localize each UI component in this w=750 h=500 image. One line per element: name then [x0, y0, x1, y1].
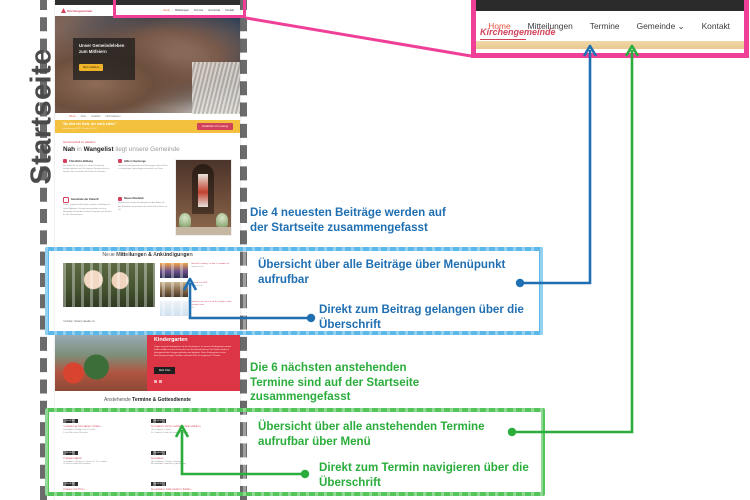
logo-mark-icon — [61, 8, 66, 13]
annotation-text-uebersicht-beitraege: Übersicht über alle Beiträge über Menüpu… — [258, 258, 548, 287]
hero-sublink-info[interactable]: Informationen — [105, 115, 120, 118]
magnifier-connectors — [246, 0, 471, 56]
intro-feature-list: Christliche Bildung Wir laden Sie herzli… — [63, 159, 169, 236]
intro-title-mid: in — [77, 146, 82, 153]
intro-feature: Neues Kleeblatt Gemeinsam mit den Nachba… — [118, 197, 168, 236]
magnified-nav-item-gemeinde[interactable]: Gemeinde ⌄ — [637, 21, 685, 31]
kindergarten-panel: Kindergarten Träger unseres Kindergarten… — [147, 331, 240, 391]
intro-feature: Christliche Bildung Wir laden Sie herzli… — [63, 159, 113, 193]
magnified-logo-text[interactable]: Kirchengemeinde — [480, 27, 556, 37]
magnified-nav-item-termine[interactable]: Termine — [590, 21, 620, 31]
intro-feature: Gemeinde der Zukunft Kinder, Jugend und … — [63, 197, 113, 236]
photo-base-shape — [176, 227, 231, 235]
feature-title: Hilfe in Seelsorge — [124, 160, 146, 163]
flower-right-shape — [216, 213, 228, 227]
chevron-down-icon: ⌄ — [675, 21, 684, 31]
magnified-nav: Kirchengemeinde Home Mitteilungen Termin… — [476, 11, 744, 41]
site-logo[interactable]: Kirchengemeinde — [61, 8, 92, 13]
magnified-gold-band — [476, 41, 744, 49]
intro-title-strong-2: Wangelist — [84, 146, 114, 153]
hero-cta-button[interactable]: Mehr erfahren — [79, 64, 103, 71]
feature-title: Christliche Bildung — [69, 160, 93, 163]
termine-heading: Anstehende Termine & Gottesdienste — [63, 397, 232, 403]
magnified-nav-item-kontakt[interactable]: Kontakt — [702, 21, 730, 31]
intro-title-strong-1: Nah — [63, 146, 75, 153]
hero-sublink-home[interactable]: Home — [69, 115, 76, 118]
kindergarten-social-icons — [154, 380, 233, 383]
feature-title: Neues Kleeblatt — [124, 197, 143, 200]
robe-shape — [198, 174, 208, 207]
annotation-text-6-naechste-termine: Die 6 nächsten anstehenden Termine sind … — [250, 361, 540, 405]
magnifier-source-rect — [113, 0, 246, 18]
site-logo-text: Kirchengemeinde — [67, 9, 92, 13]
quote-band: "Du bist ein Gott, der mich sieht." Jahr… — [55, 120, 240, 133]
intro-section: Gemeinschaft im Glauben Nah in Wangelist… — [55, 133, 240, 246]
kindergarten-photo — [55, 331, 147, 391]
hero-sublink-ueber[interactable]: Über — [81, 115, 86, 118]
feature-bullet-icon — [118, 159, 122, 163]
kindergarten-button[interactable]: Mehr Infos — [154, 367, 175, 374]
feature-title: Gemeinde der Zukunft — [71, 198, 99, 201]
hero-headline: Unser Gemeindeleben zum Mitfeiern — [79, 43, 129, 55]
annotation-text-direkt-zum-termin: Direkt zum Termin navigieren über die Üb… — [319, 461, 559, 490]
kindergarten-section: Kindergarten Träger unseres Kindergarten… — [55, 331, 240, 391]
feature-bullet-icon — [118, 197, 122, 201]
social-icon-2[interactable] — [159, 380, 162, 383]
intro-title: Nah in Wangelist liegt unsere Gemeinde — [63, 146, 232, 154]
quote-line: "Du bist ein Gott, der mich sieht." — [62, 122, 116, 126]
section-label-startseite: Startseite — [26, 17, 59, 217]
intro-body: Christliche Bildung Wir laden Sie herzli… — [63, 159, 232, 236]
intro-eyebrow: Gemeinschaft im Glauben — [63, 140, 232, 144]
feature-heart-icon — [63, 197, 69, 203]
kindergarten-body: Träger unseres Kindergartens ist der Kir… — [154, 346, 233, 358]
magnified-topbar — [476, 0, 744, 11]
kindergarten-title: Kindergarten — [154, 337, 233, 343]
feature-body: Wir laden Sie herzlich ein, unsere Gemei… — [63, 165, 113, 174]
magnified-logo-underline — [480, 39, 526, 40]
hero-sublink-andacht[interactable]: Andacht — [91, 115, 100, 118]
social-icon-1[interactable] — [154, 380, 157, 383]
termine-heading-bold: Termine & Gottesdienste — [132, 397, 191, 403]
feature-body: Unsere Seelsorgerinnen und Seelsorger st… — [118, 165, 168, 171]
annotation-text-direkt-zum-beitrag: Direkt zum Beitrag gelangen über die Übe… — [319, 303, 554, 332]
feature-body: Gemeinsam mit den Nachbargemeinden bilde… — [118, 202, 168, 211]
annotation-text-uebersicht-termine: Übersicht über alle anstehenden Termine … — [258, 420, 558, 449]
intro-title-rest: liegt unsere Gemeinde — [115, 146, 179, 153]
intro-feature: Hilfe in Seelsorge Unsere Seelsorgerinne… — [118, 159, 168, 193]
quote-reference: Jahreslosung 2023 - Genesis 16,13 — [62, 127, 116, 132]
site-hero: Unser Gemeindeleben zum Mitfeiern Mehr e… — [55, 16, 240, 113]
annotation-text-4-neueste-beitraege: Die 4 neuesten Beiträge werden auf der S… — [250, 206, 550, 235]
screenshot-stage: Startseite Kirchengemeinde Home Mitteilu… — [0, 0, 750, 500]
flower-left-shape — [179, 213, 191, 227]
intro-photo — [175, 159, 232, 236]
quote-text: "Du bist ein Gott, der mich sieht." Jahr… — [62, 122, 116, 132]
feature-bullet-icon — [63, 159, 67, 163]
magnified-nav-panel: Kirchengemeinde Home Mitteilungen Termin… — [471, 0, 749, 58]
quote-cta-button[interactable]: Andachten zur Losung — [197, 123, 233, 130]
hero-sublinks: Home Über Andacht Informationen — [55, 113, 240, 120]
hero-sleeve-texture — [192, 62, 240, 114]
feature-body: Kinder, Jugend und Familien stehen im Mi… — [63, 204, 113, 216]
hero-overlay-card: Unser Gemeindeleben zum Mitfeiern Mehr e… — [73, 38, 135, 80]
termine-heading-light: Anstehende — [104, 397, 131, 403]
